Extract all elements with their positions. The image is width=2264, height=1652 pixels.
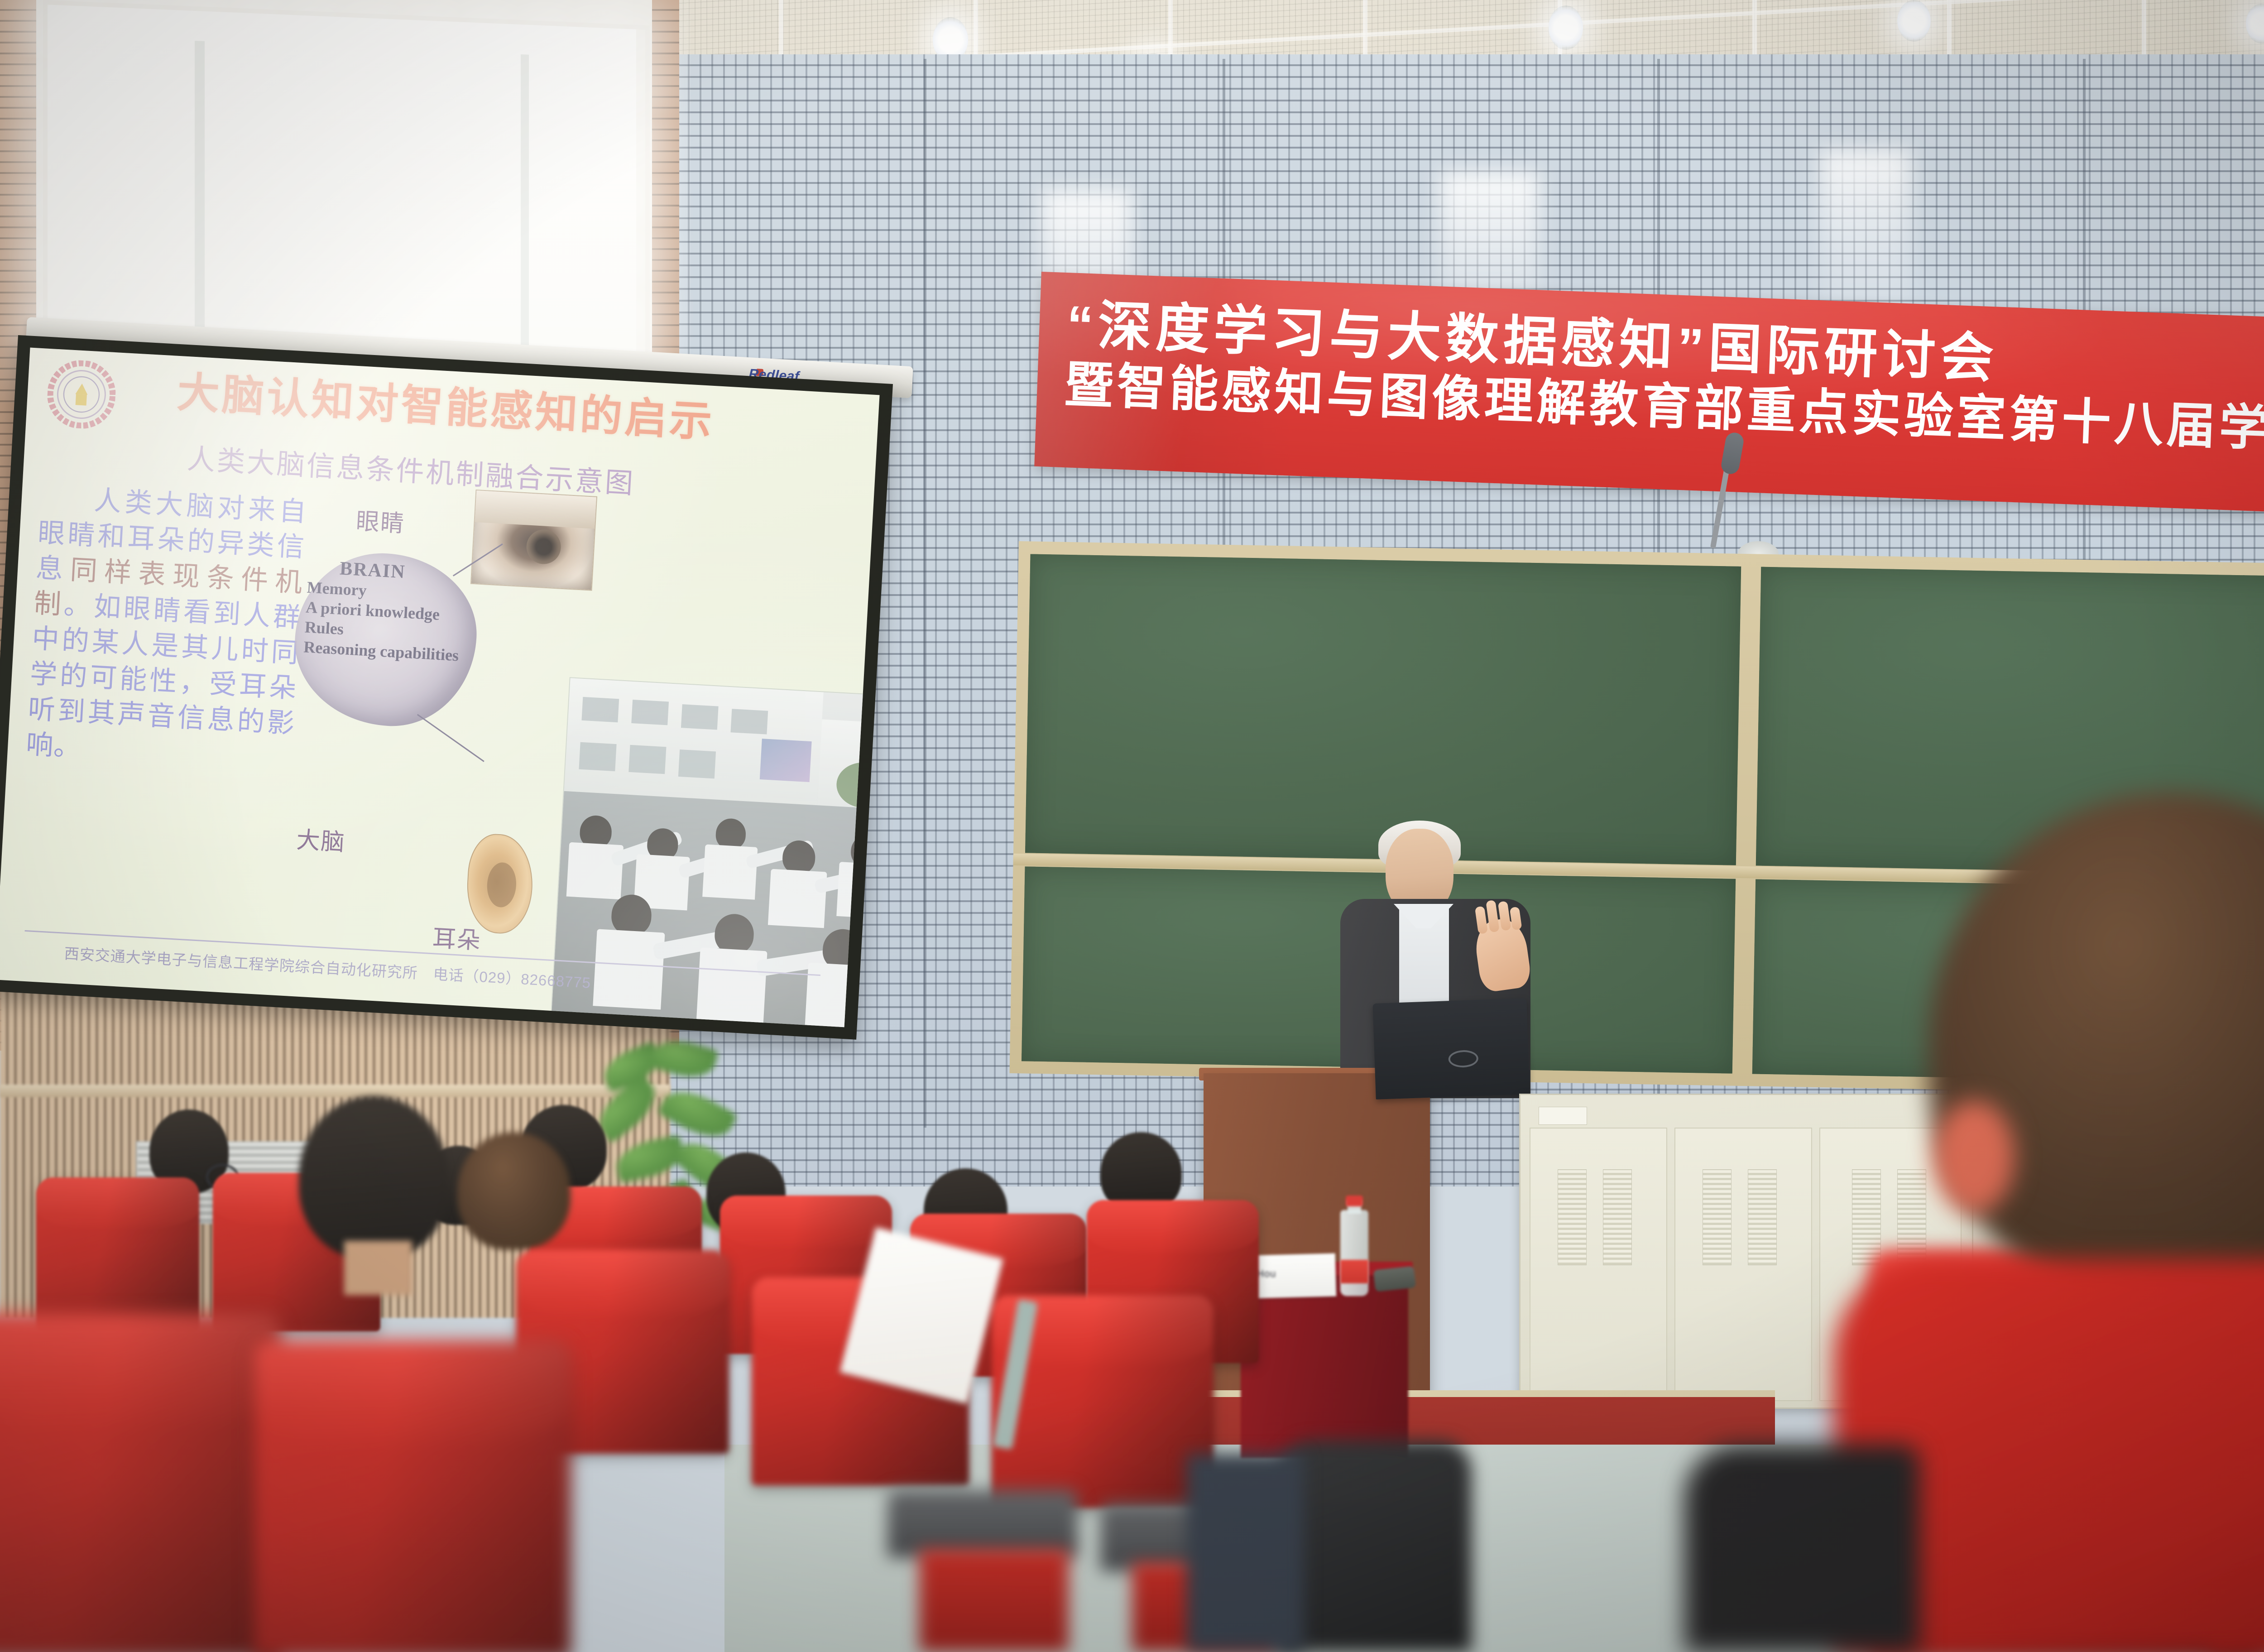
chalkboard-pane [1025, 554, 1741, 865]
ear-photo [465, 832, 535, 935]
cabinet-door [1530, 1128, 1667, 1401]
cabinet-label [1539, 1107, 1587, 1125]
laptop [1372, 998, 1530, 1100]
slide-body-text: 人类大脑对来自眼睛和耳朵的异类信息同样表现条件机制。如眼睛看到人群中的某人是其儿… [25, 480, 307, 777]
attendee-trousers [1186, 1454, 1304, 1652]
bottle-label [1340, 1260, 1368, 1283]
foreground-attendee-dark-jacket [1684, 1445, 1920, 1652]
label-brain: 大脑 [296, 821, 346, 857]
slat-wall-rail [0, 1085, 670, 1097]
seat-armrest [887, 1490, 1078, 1558]
attendee-neck [344, 1241, 412, 1295]
slide-body-suffix: 。如眼睛看到人群中的某人是其儿时同学的可能性，受耳朵听到其声音信息的影响。 [25, 590, 302, 763]
laptop-logo [1448, 1050, 1478, 1068]
window-mullion [195, 41, 205, 358]
auditorium-seat [36, 1177, 199, 1331]
ceiling-light [1897, 0, 1931, 42]
auditorium-seat [0, 1313, 281, 1652]
window-mullion [521, 54, 529, 363]
attendee-head [457, 1132, 571, 1250]
presentation-slide: 大脑认知对智能感知的启示 人类大脑信息条件机制融合示意图 人类大脑对来自眼睛和耳… [0, 348, 880, 1028]
eye-lid [475, 490, 596, 528]
projection-screen: 大脑认知对智能感知的启示 人类大脑信息条件机制融合示意图 人类大脑对来自眼睛和耳… [0, 335, 893, 1040]
attendee-head [299, 1096, 448, 1259]
seat-base [919, 1549, 1069, 1652]
cabinet-door [1674, 1128, 1812, 1401]
eye-iris [525, 528, 561, 565]
table-microphone [1373, 1266, 1416, 1292]
ear-canal [486, 862, 518, 908]
bottle-cap [1346, 1196, 1363, 1206]
label-ear: 耳朵 [432, 919, 482, 956]
ceiling-light [1549, 5, 1583, 50]
attendee-bag [1277, 1440, 1472, 1652]
lecture-hall-photo: “深度学习与大数据感知”国际研讨会 暨智能感知与图像理解教育部重点实验室第十八届… [0, 0, 2264, 1652]
foreground-attendee-ear [1933, 1100, 2015, 1214]
brain-to-ear-connector [417, 714, 484, 762]
name-card-text: Hou [1257, 1268, 1276, 1280]
university-seal-icon [46, 359, 117, 430]
auditorium-seat [254, 1340, 571, 1652]
label-eye: 眼睛 [355, 502, 406, 538]
brain-label-group: BRAIN Memory A priori knowledge Rules Re… [303, 556, 503, 668]
wall-seam [924, 59, 926, 1128]
